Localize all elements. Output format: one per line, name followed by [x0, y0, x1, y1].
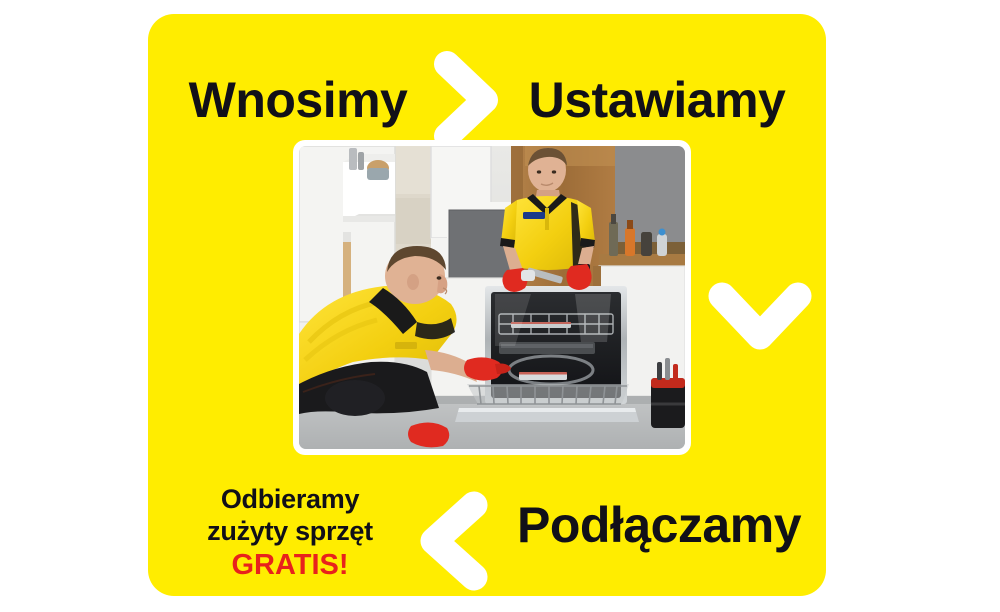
chevron-down-icon — [706, 278, 814, 360]
headline-step-1: Wnosimy — [167, 75, 429, 125]
pickup-line-2: zużyty sprzęt — [176, 516, 404, 548]
pickup-line-1: Odbieramy — [176, 484, 404, 516]
pickup-offer-block: Odbieramy zużyty sprzęt GRATIS! — [176, 484, 404, 582]
chevron-left-icon — [410, 488, 494, 594]
headline-row: Wnosimy Ustawiamy — [148, 48, 826, 152]
photo-illustration — [299, 146, 685, 449]
pickup-free-badge: GRATIS! — [176, 548, 404, 582]
headline-step-2: Ustawiamy — [507, 75, 807, 125]
chevron-right-icon — [429, 48, 507, 152]
headline-step-3: Podłączamy — [504, 500, 814, 550]
promo-card: Wnosimy Ustawiamy — [148, 14, 826, 596]
photo-frame — [293, 140, 691, 455]
technicians-installing-dishwasher-photo — [299, 146, 685, 449]
